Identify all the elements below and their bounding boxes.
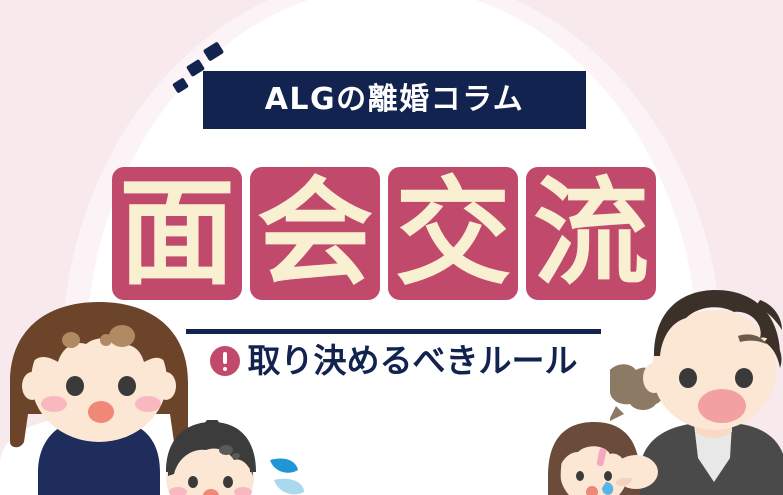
kanji-box-1: 面	[112, 167, 242, 300]
sweat-drop-icon	[274, 479, 304, 495]
sweat-drop-icon	[270, 458, 298, 472]
kanji-char-1: 面	[119, 176, 235, 292]
subtitle-divider	[186, 329, 601, 334]
kanji-char-2: 会	[257, 176, 373, 292]
column-banner: ALGの離婚コラム	[203, 71, 586, 129]
kanji-char-4: 流	[533, 176, 649, 292]
poster-canvas: ALGの離婚コラム 面 会 交 流 取り決めるべきルール	[0, 0, 783, 495]
kanji-box-3: 交	[388, 167, 518, 300]
subtitle-row: 取り決めるべきルール	[186, 344, 601, 377]
kanji-char-3: 交	[395, 176, 511, 292]
kanji-box-2: 会	[250, 167, 380, 300]
character-boy-center	[148, 420, 318, 495]
subtitle-text: 取り決めるべきルール	[248, 344, 578, 377]
character-man-right	[610, 282, 783, 495]
exclamation-circle-icon	[210, 346, 240, 376]
title-kanji-row: 面 会 交 流	[112, 167, 656, 300]
kanji-box-4: 流	[526, 167, 656, 300]
banner-text: ALGの離婚コラム	[265, 85, 525, 115]
